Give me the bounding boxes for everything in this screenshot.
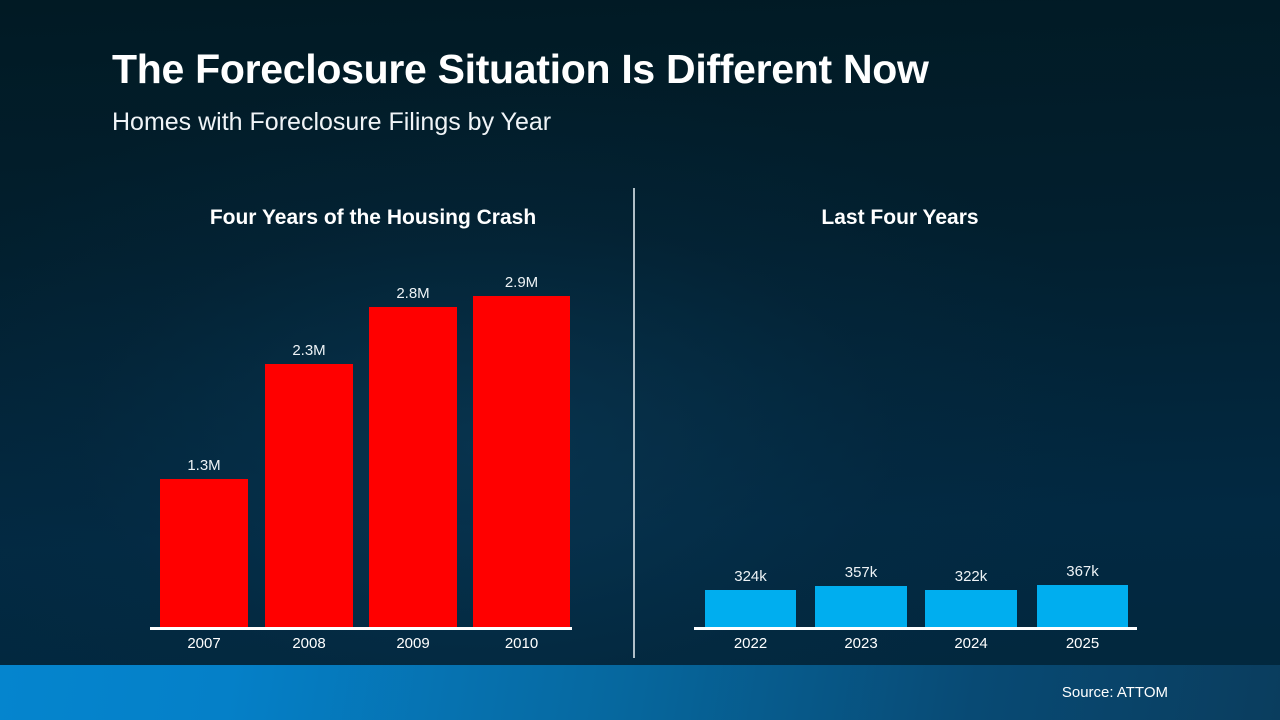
x-axis-label-2010: 2010	[443, 634, 600, 654]
page-subtitle: Homes with Foreclosure Filings by Year	[112, 107, 551, 137]
bar-crash-2007[interactable]	[160, 479, 248, 627]
x-axis-line-left	[150, 627, 572, 630]
slide-canvas: The Foreclosure Situation Is Different N…	[0, 0, 1280, 720]
bar-value-label-crash-2010: 2.9M	[443, 274, 600, 292]
page-title: The Foreclosure Situation Is Different N…	[112, 45, 929, 93]
source-attribution: Source: ATTOM	[1062, 684, 1168, 702]
bar-recent-2024[interactable]	[925, 590, 1017, 627]
bar-crash-2009[interactable]	[369, 307, 457, 627]
bar-crash-2008[interactable]	[265, 364, 353, 627]
bar-crash-2010[interactable]	[473, 296, 570, 627]
x-axis-label-2025: 2025	[1007, 634, 1158, 654]
bar-value-label-recent-2025: 367k	[1007, 563, 1158, 581]
bar-value-label-crash-2007: 1.3M	[130, 457, 278, 475]
x-axis-line-right	[694, 627, 1137, 630]
bar-recent-2025[interactable]	[1037, 585, 1128, 627]
bar-value-label-crash-2008: 2.3M	[235, 342, 383, 360]
bar-recent-2023[interactable]	[815, 586, 907, 627]
chart-title-housing-crash: Four Years of the Housing Crash	[147, 206, 599, 230]
bar-recent-2022[interactable]	[705, 590, 796, 627]
chart-title-last-four-years: Last Four Years	[700, 206, 1100, 230]
panel-divider	[633, 188, 635, 658]
